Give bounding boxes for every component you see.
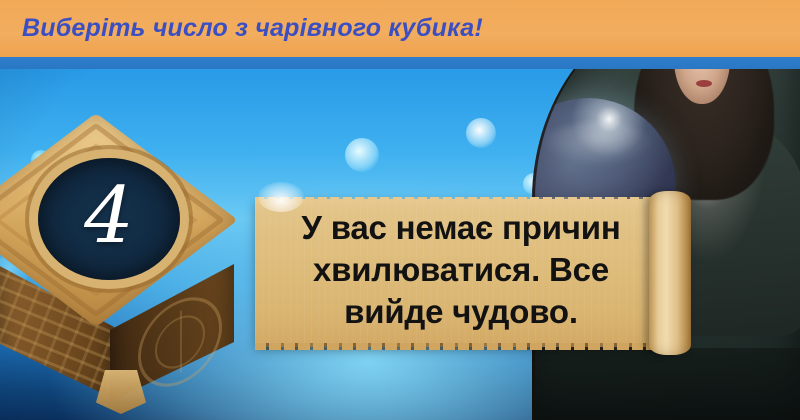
scroll-torn-edge-bottom [255, 343, 667, 350]
cube-number-disc: 4 [38, 158, 180, 280]
message-scroll: У вас немає причин хвилюватися. Все вийд… [255, 199, 691, 347]
crystal-ball-sheen [542, 122, 652, 166]
magic-cube[interactable]: 4 [0, 132, 252, 380]
figure-lips [696, 80, 712, 87]
headline-text: Виберіть число з чарівного кубика! [22, 10, 582, 46]
headline-accent-strip [0, 57, 800, 69]
table-surface [532, 348, 800, 420]
promo-card: Виберіть число з чарівного кубика! 4 У в… [0, 0, 800, 420]
scroll-torn-edge-top [255, 197, 667, 204]
cube-number: 4 [84, 177, 134, 255]
scroll-message: У вас немає причин хвилюватися. Все вийд… [259, 207, 663, 333]
